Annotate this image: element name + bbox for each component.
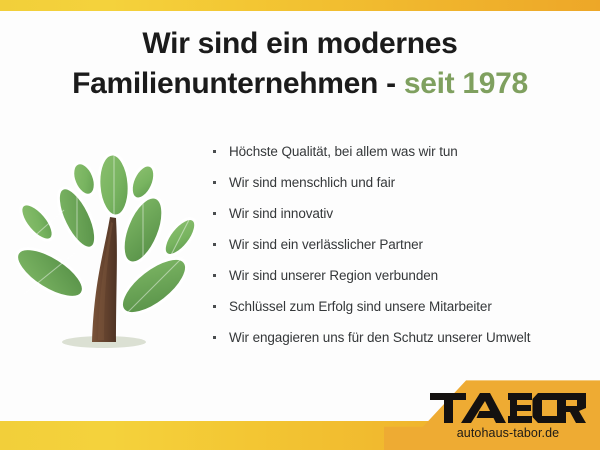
headline-line-2-main: Familienunternehmen - — [72, 67, 404, 100]
bullet-dot-icon — [213, 336, 216, 339]
leaf — [15, 199, 59, 246]
list-item-label: Wir sind unserer Region verbunden — [229, 268, 438, 283]
headline-accent-year: seit 1978 — [404, 67, 528, 100]
tabor-wordmark — [428, 391, 588, 425]
list-item-label: Wir sind innovativ — [229, 206, 333, 221]
bullet-dot-icon — [213, 305, 216, 308]
list-item: Wir engagieren uns für den Schutz unsere… — [209, 329, 599, 347]
headline-line-1: Wir sind ein modernes — [0, 24, 600, 64]
bullet-dot-icon — [213, 212, 216, 215]
list-item-label: Wir sind ein verlässlicher Partner — [229, 237, 423, 252]
list-item: Höchste Qualität, bei allem was wir tun — [209, 143, 599, 161]
list-item: Wir sind menschlich und fair — [209, 174, 599, 192]
list-item: Wir sind innovativ — [209, 205, 599, 223]
list-item-label: Schlüssel zum Erfolg sind unsere Mitarbe… — [229, 299, 492, 314]
bullet-dot-icon — [213, 181, 216, 184]
logo-url-text[interactable]: autohaus-tabor.de — [428, 426, 588, 440]
list-item: Schlüssel zum Erfolg sind unsere Mitarbe… — [209, 298, 599, 316]
page-title: Wir sind ein modernes Familienunternehme… — [0, 24, 600, 104]
leaf — [12, 239, 91, 306]
headline-line-2: Familienunternehmen - seit 1978 — [0, 64, 600, 104]
list-item-label: Wir engagieren uns für den Schutz unsere… — [229, 330, 530, 345]
slide-canvas: Wir sind ein modernes Familienunternehme… — [0, 0, 600, 450]
list-item-label: Höchste Qualität, bei allem was wir tun — [229, 144, 458, 159]
bullet-dot-icon — [213, 243, 216, 246]
list-item: Wir sind unserer Region verbunden — [209, 267, 599, 285]
list-item: Wir sind ein verlässlicher Partner — [209, 236, 599, 254]
bullet-dot-icon — [213, 150, 216, 153]
top-accent-bar — [0, 0, 600, 11]
logo-content: autohaus-tabor.de — [428, 391, 588, 440]
brand-logo-panel[interactable]: autohaus-tabor.de — [384, 364, 600, 450]
value-list: Höchste Qualität, bei allem was wir tun … — [209, 143, 599, 360]
list-item-label: Wir sind menschlich und fair — [229, 175, 395, 190]
bullet-dot-icon — [213, 274, 216, 277]
tree-illustration — [12, 142, 202, 354]
